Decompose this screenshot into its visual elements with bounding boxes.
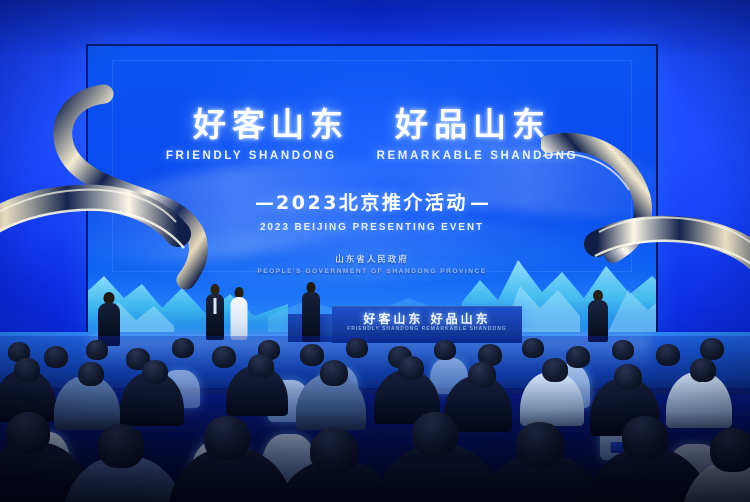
stage-person-speaker	[300, 282, 322, 342]
audience-head	[98, 424, 144, 468]
audience-head	[6, 412, 50, 454]
podium-banner-cn: 好客山东 好品山东	[332, 310, 522, 327]
audience-head	[310, 428, 358, 474]
audience-head	[614, 364, 642, 390]
audience-head	[542, 358, 568, 382]
event-dash-right: —	[468, 192, 491, 214]
slogan-cn-row: 好客山东 好品山东	[88, 108, 656, 141]
audience-area	[0, 336, 750, 502]
audience-head	[434, 340, 456, 360]
audience-head	[204, 416, 250, 460]
audience-head	[44, 346, 68, 368]
audience-head	[612, 340, 634, 360]
audience-head	[78, 362, 104, 386]
torso	[302, 292, 320, 342]
stage-person-attendee-right	[586, 290, 610, 342]
event-title-en: 2023 BEIJING PRESENTING EVENT	[88, 222, 656, 233]
shirt-front	[214, 298, 217, 314]
audience-head	[690, 358, 716, 382]
audience-head	[320, 360, 348, 386]
audience-head	[248, 354, 274, 378]
event-title-cn-text: 2023北京推介活动	[276, 192, 468, 214]
podium-banner-en: FRIENDLY SHANDONG REMARKABLE SHANDONG	[332, 326, 522, 332]
audience-head	[142, 360, 168, 384]
event-stage-photo: 好客山东 好品山东 FRIENDLY SHANDONG REMARKABLE S…	[0, 0, 750, 502]
audience-head	[710, 428, 750, 472]
audience-head	[212, 346, 236, 368]
slogan-cn-right: 好品山东	[395, 108, 551, 141]
audience-head	[468, 362, 496, 388]
stage-person-female-host	[228, 287, 250, 340]
event-title-cn: —2023北京推介活动—	[88, 188, 656, 215]
audience-head	[566, 346, 590, 368]
event-dash-left: —	[253, 192, 276, 214]
stage-person-male-host	[204, 284, 226, 340]
slogan-en-right: REMARKABLE SHANDONG	[377, 150, 578, 162]
dress	[231, 297, 248, 340]
slogan-en-row: FRIENDLY SHANDONG REMARKABLE SHANDONG	[88, 150, 656, 162]
audience-head	[700, 338, 724, 360]
audience-head	[86, 340, 108, 360]
audience-head	[516, 422, 564, 468]
slogan-en-left: FRIENDLY SHANDONG	[166, 150, 337, 162]
slogan-cn-left: 好客山东	[193, 108, 349, 141]
audience-head	[412, 412, 458, 456]
audience-head	[522, 338, 544, 358]
led-screen: 好客山东 好品山东 FRIENDLY SHANDONG REMARKABLE S…	[88, 46, 656, 332]
audience-head	[622, 416, 668, 460]
audience-head	[398, 356, 424, 380]
audience-head	[346, 338, 368, 358]
audience-head	[172, 338, 194, 358]
audience-head	[656, 344, 680, 366]
audience-head	[14, 358, 40, 382]
audience-head	[300, 344, 324, 366]
